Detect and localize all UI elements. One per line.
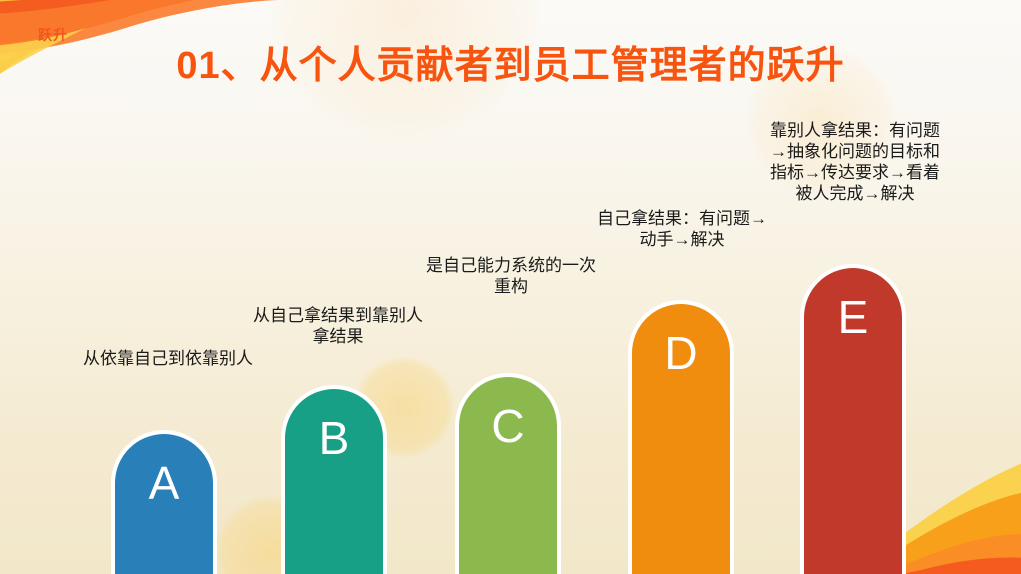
bar-caption-c: 是自己能力系统的一次重构 bbox=[421, 255, 601, 297]
bar-letter-e: E bbox=[838, 294, 869, 574]
bar-e[interactable]: E bbox=[800, 264, 906, 574]
bar-letter-b: B bbox=[319, 415, 350, 574]
bar-letter-a: A bbox=[149, 460, 180, 574]
bar-letter-d: D bbox=[664, 330, 697, 574]
slide-canvas: 跃升 01、从个人贡献者到员工管理者的跃升 从依靠自己到依靠别人A从自己拿结果到… bbox=[0, 0, 1021, 574]
bar-a[interactable]: A bbox=[111, 430, 217, 574]
bar-letter-c: C bbox=[491, 403, 524, 574]
bar-d[interactable]: D bbox=[628, 300, 734, 574]
bar-caption-e: 靠别人拿结果：有问题→抽象化问题的目标和指标→传达要求→看着被人完成→解决 bbox=[765, 120, 945, 204]
bar-caption-a: 从依靠自己到依靠别人 bbox=[78, 348, 258, 369]
bar-caption-b: 从自己拿结果到靠别人拿结果 bbox=[248, 305, 428, 347]
bar-c[interactable]: C bbox=[455, 373, 561, 574]
bar-b[interactable]: B bbox=[281, 385, 387, 574]
page-title: 01、从个人贡献者到员工管理者的跃升 bbox=[0, 34, 1021, 89]
bar-caption-d: 自己拿结果：有问题→动手→解决 bbox=[592, 208, 772, 250]
